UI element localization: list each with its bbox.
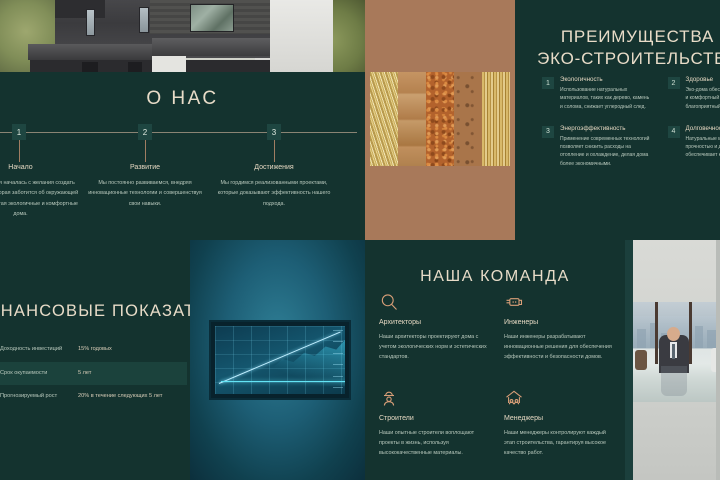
team-text: Наши инженеры разрабатывают инновационны… [504,332,615,362]
finance-section: ФИНАНСОВЫЕ ПОКАЗАТЕЛИ Доходность инвести… [0,240,190,480]
timeline-heading: Начало [0,164,83,171]
head [667,327,680,341]
window-wide [190,4,234,32]
axis-tick [333,376,343,377]
axis-tick [333,364,343,365]
advantage-item: 1 Экологичность Использование натуральны… [542,76,652,111]
chart-axis-ticks [333,330,343,388]
window-narrow-left [86,9,95,36]
office-photo [625,240,720,480]
team-member: Инженеры Наши инженеры разрабатывают инн… [504,292,615,362]
advantage-text: Применение современных технологий позвол… [560,135,652,168]
table-reflection [661,366,687,396]
finance-key: Срок окупаемости [0,369,78,379]
axis-tick [333,387,343,388]
timeline-text: Наша история началась с желания создать … [0,178,83,219]
window-mullion [689,302,692,364]
table-row: Срок окупаемости 5 лет [0,362,187,386]
chart-screen [215,326,345,394]
window-narrow-mid [139,7,149,33]
team-grid: Архитекторы Наши архитекторы проектируют… [379,292,615,458]
about-section: О НАС 1 2 3 Начало Наша история началась… [0,72,365,240]
advantage-text: Эко-дома обеспечивают чистый воздух и ко… [686,86,720,111]
axis-tick [333,353,343,354]
advantage-number: 1 [542,77,554,89]
skyline-building [637,329,646,348]
chart-screen-frame [209,320,351,400]
house-photo [0,0,365,72]
material-bamboo [482,72,510,166]
timeline-number: 1 [12,124,26,140]
material-straw [370,72,398,166]
finance-value: 15% годовых [78,345,112,355]
ground-window-1 [82,62,98,72]
axis-tick [333,341,343,342]
timeline-node-3: 3 [267,124,281,162]
timeline-node-2: 2 [138,124,152,162]
tie [672,344,675,359]
team-text: Наши архитекторы проектируют дома с учет… [379,332,490,362]
chair-left [635,350,647,370]
worker-helmet-icon [379,388,490,408]
advantage-number: 2 [668,77,680,89]
timeline-text-1: Начало Наша история началась с желания с… [0,164,83,219]
team-heading: Инженеры [504,319,615,326]
timeline-text-3: Достижения Мы гордимся реализованными пр… [213,164,335,209]
advantage-item: 2 Здоровье Эко-дома обеспечивают чистый … [668,76,720,111]
finance-value: 20% в течение следующих 5 лет [78,392,162,402]
table-row: Прогнозируемый рост 20% в течение следую… [0,385,187,409]
skyline-building [695,326,703,348]
office-left-edge [625,240,633,480]
material-cork [426,72,454,166]
timeline-rail [0,132,357,133]
advantage-text: Использование натуральных материалов, та… [560,86,652,111]
timeline-number: 2 [138,124,152,140]
advantage-number: 3 [542,126,554,138]
finance-value: 5 лет [78,369,91,379]
team-section: НАША КОМАНДА Архитекторы Наши архитектор… [365,240,625,480]
advantage-heading: Долговечность [686,125,720,132]
about-title: О НАС [0,88,365,110]
office-right-edge [716,240,720,480]
advantages-title-line2: ЭКО-СТРОИТЕЛЬСТВА [515,48,720,70]
window-mullion [655,302,658,364]
team-text: Наши опытные строители воплощают проекты… [379,428,490,458]
office-meeting-image [633,302,720,402]
balcony-right [152,38,270,56]
timeline-number: 3 [267,124,281,140]
team-heading: Менеджеры [504,415,615,422]
advantage-heading: Энергоэффективность [560,125,652,132]
team-heading: Строители [379,415,490,422]
ground-window-2 [128,62,142,72]
axis-tick [333,330,343,331]
timeline-heading: Достижения [213,164,335,171]
team-title: НАША КОМАНДА [365,268,625,286]
timeline-stem [19,140,20,162]
materials-swatch-strip [370,72,510,166]
timeline-node-1: 1 [12,124,26,162]
timeline-text: Мы гордимся реализованными проектами, ко… [213,178,335,209]
team-member: Менеджеры Наши менеджеры контролируют ка… [504,388,615,458]
chart-baseline [221,381,345,383]
balcony-left [28,44,153,60]
timeline-stem [274,140,275,162]
house-dark-top [55,0,105,18]
presentation-canvas: ПРЕИМУЩЕСТВА ЭКО-СТРОИТЕЛЬСТВА 1 Экологи… [0,0,720,480]
team-member: Архитекторы Наши архитекторы проектируют… [379,292,490,362]
machine-icon [504,292,615,312]
materials-photo [365,0,515,240]
advantage-text: Натуральные материалы отличаются прочнос… [686,135,720,160]
timeline-stem [145,140,146,162]
team-member: Строители Наши опытные строители воплоща… [379,388,490,458]
advantage-heading: Экологичность [560,76,652,83]
material-clay [454,72,482,166]
material-wood [398,72,426,166]
entry-pillar [152,56,186,72]
advantage-item: 3 Энергоэффективность Применение совреме… [542,125,652,168]
advantages-title: ПРЕИМУЩЕСТВА ЭКО-СТРОИТЕЛЬСТВА [515,26,720,70]
finance-key: Прогнозируемый рост [0,392,78,402]
house-roof-icon [504,388,615,408]
finance-key: Доходность инвестиций [0,345,78,355]
timeline-text-2: Развитие Мы постоянно развиваемся, внедр… [84,164,206,209]
advantages-grid: 1 Экологичность Использование натуральны… [542,76,720,168]
advantages-section: ПРЕИМУЩЕСТВА ЭКО-СТРОИТЕЛЬСТВА 1 Экологи… [515,0,720,240]
table-row: Доходность инвестиций 15% годовых [0,338,187,362]
magnifier-icon [379,292,490,312]
advantage-number: 4 [668,126,680,138]
advantage-heading: Здоровье [686,76,720,83]
team-text: Наши менеджеры контролируют каждый этап … [504,428,615,458]
chart-photo [190,240,365,480]
finance-table: Доходность инвестиций 15% годовых Срок о… [0,338,187,409]
ground-floor [30,60,270,72]
team-heading: Архитекторы [379,319,490,326]
timeline-text: Мы постоянно развиваемся, внедряя иннова… [84,178,206,209]
timeline-heading: Развитие [84,164,206,171]
advantages-title-line1: ПРЕИМУЩЕСТВА [515,26,720,48]
finance-title: ФИНАНСОВЫЕ ПОКАЗАТЕЛИ [0,302,190,321]
advantage-item: 4 Долговечность Натуральные материалы от… [668,125,720,168]
